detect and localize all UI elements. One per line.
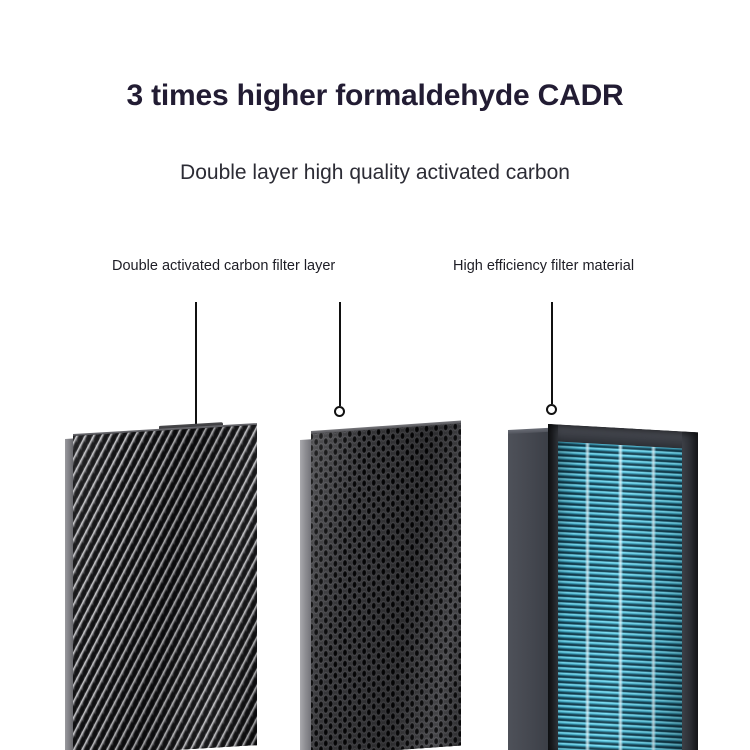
callout-dot-icon-2 [334,406,345,417]
hepa-frame-right [682,431,698,750]
product-feature-graphic: 3 times higher formaldehyde CADR Double … [0,0,750,750]
callout-label-high-efficiency: High efficiency filter material [453,258,634,275]
callout-label-carbon-layer: Double activated carbon filter layer [112,258,335,275]
honeycomb-panel-sheen [311,424,461,750]
hepa-frame-left [548,424,558,750]
hepa-pleated-filter-panel [508,420,698,750]
mesh-panel-front-face [73,425,257,750]
page-subtitle: Double layer high quality activated carb… [0,159,750,186]
callout-dot-icon-3 [546,404,557,415]
mesh-panel-sheen [73,425,257,750]
hepa-media-shading [557,441,683,750]
mesh-pre-filter-panel [60,424,260,750]
honeycomb-carbon-filter-panel [300,428,460,750]
leader-line-3 [551,302,553,404]
page-title: 3 times higher formaldehyde CADR [0,78,750,114]
honeycomb-panel-front-face [311,424,461,750]
hepa-pleated-media [557,441,683,750]
hepa-panel-side-face [508,432,550,750]
leader-line-1 [195,302,197,426]
leader-line-2 [339,302,341,406]
hepa-panel-front-face [548,424,698,750]
